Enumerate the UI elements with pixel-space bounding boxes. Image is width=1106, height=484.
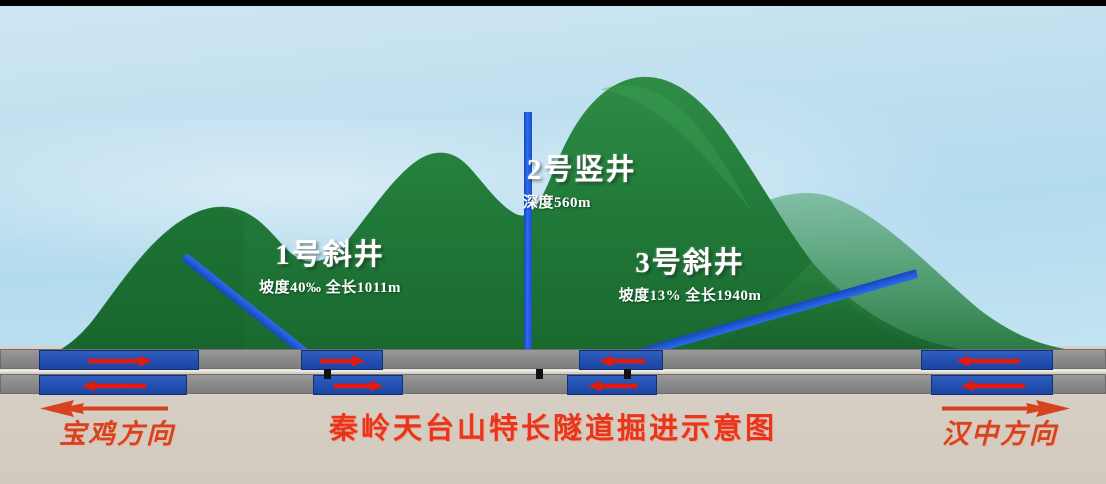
shaft-2-label: 2号竖井 深度560m	[505, 155, 665, 212]
shaft-1-name: 1号斜井	[215, 240, 445, 272]
cross-passage	[324, 369, 331, 379]
shaft-3-name: 3号斜井	[585, 248, 795, 280]
shaft-2-vertical-line	[524, 112, 532, 360]
tunnel-completed-segment	[931, 375, 1053, 395]
heading-arrow-icon	[88, 356, 152, 365]
tunnel-tube-upper	[0, 349, 1106, 369]
tunnel-completed-segment	[39, 375, 187, 395]
shaft-1-spec: 坡度40‰ 全长1011m	[215, 276, 445, 297]
heading-arrow-icon	[588, 381, 638, 390]
heading-arrow-icon	[599, 356, 645, 365]
top-black-bar	[0, 0, 1106, 6]
heading-arrow-icon	[334, 381, 384, 390]
shaft-1-label: 1号斜井 坡度40‰ 全长1011m	[215, 240, 445, 297]
tunnel-completed-segment	[579, 350, 663, 370]
tunnel-completed-segment	[39, 350, 199, 370]
direction-label-left: 宝鸡方向	[22, 412, 212, 451]
tunnel-tube-lower	[0, 374, 1106, 394]
shaft-3-label: 3号斜井 坡度13% 全长1940m	[585, 248, 795, 305]
tunnel-completed-segment	[301, 350, 383, 370]
heading-arrow-icon	[320, 356, 365, 365]
heading-arrow-icon	[961, 381, 1025, 390]
shaft-3-spec: 坡度13% 全长1940m	[585, 284, 795, 305]
shaft-2-name: 2号竖井	[505, 155, 665, 187]
cross-passage	[624, 369, 631, 379]
tunnel-completed-segment	[921, 350, 1053, 370]
tunnel-completed-segment	[567, 375, 657, 395]
shaft-2-spec: 深度560m	[505, 191, 665, 212]
heading-arrow-icon	[956, 356, 1020, 365]
heading-arrow-icon	[82, 381, 146, 390]
cross-passage	[536, 369, 543, 379]
tunnel-schematic-figure: 1号斜井 坡度40‰ 全长1011m 2号竖井 深度560m 3号斜井 坡度13…	[0, 0, 1106, 484]
direction-label-right: 汉中方向	[905, 412, 1095, 451]
